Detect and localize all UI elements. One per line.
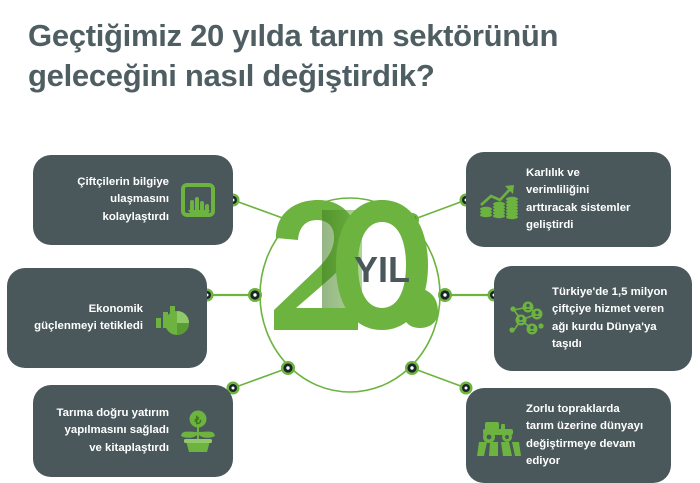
ring-node-bottom-left	[281, 361, 295, 375]
tablet-hand-icon	[175, 177, 221, 223]
card-changing-world-agriculture[interactable]: Zorlu topraklarda tarım üzerine dünyayı …	[466, 388, 671, 483]
ring-node-left	[248, 288, 262, 302]
ring-node-right	[438, 288, 452, 302]
infographic-root: Geçtiğimiz 20 yılda tarım sektörünün gel…	[0, 0, 700, 458]
connector-line-4	[412, 200, 466, 220]
card-farmer-network-turkey[interactable]: Türkiye'de 1,5 milyon çiftçiye hizmet ve…	[494, 266, 692, 371]
connector-line-3	[233, 368, 288, 388]
bar-pie-chart-icon	[149, 295, 195, 341]
page-title-line-1: Geçtiğimiz 20 yılda tarım sektörünün	[28, 16, 678, 56]
card-5-text: Türkiye'de 1,5 milyon çiftçiye hizmet ve…	[548, 284, 682, 352]
tractor-field-icon	[476, 413, 522, 459]
connector-line-1	[233, 200, 288, 220]
card-1-text: Çiftçilerin bilgiye ulaşmasını kolaylaşt…	[47, 174, 175, 225]
card-farmer-information-access[interactable]: Çiftçilerin bilgiye ulaşmasını kolaylaşt…	[33, 155, 233, 245]
connector-line-6	[412, 368, 466, 388]
ring-node-top-left	[281, 213, 295, 227]
svg-text:₺: ₺	[194, 415, 202, 427]
card-agriculture-investment[interactable]: Tarıma doğru yatırım yapılmasını sağladı…	[33, 385, 233, 477]
card-profitability-systems[interactable]: Karlılık ve verimliliğini arttıracak sis…	[466, 152, 671, 247]
plant-lira-icon: ₺	[175, 408, 221, 454]
card-4-text: Karlılık ve verimliliğini arttıracak sis…	[522, 165, 657, 233]
card-economic-empowerment[interactable]: Ekonomik güçlenmeyi tetikledi	[7, 268, 207, 368]
coins-growth-arrow-icon	[476, 177, 522, 223]
network-people-icon	[502, 296, 548, 342]
card-6-text: Zorlu topraklarda tarım üzerine dünyayı …	[522, 401, 657, 469]
card-2-text: Ekonomik güçlenmeyi tetikledi	[21, 301, 149, 335]
card-3-text: Tarıma doğru yatırım yapılmasını sağladı…	[47, 405, 175, 456]
page-title: Geçtiğimiz 20 yılda tarım sektörünün gel…	[28, 16, 678, 95]
diagram-area: YIL Çiftçilerin bilgiye ulaşmasını kolay…	[0, 140, 700, 458]
page-title-line-2: geleceğini nasıl değiştirdik?	[28, 56, 678, 96]
ring-node-top-right	[405, 213, 419, 227]
ring-node-bottom-right	[405, 361, 419, 375]
